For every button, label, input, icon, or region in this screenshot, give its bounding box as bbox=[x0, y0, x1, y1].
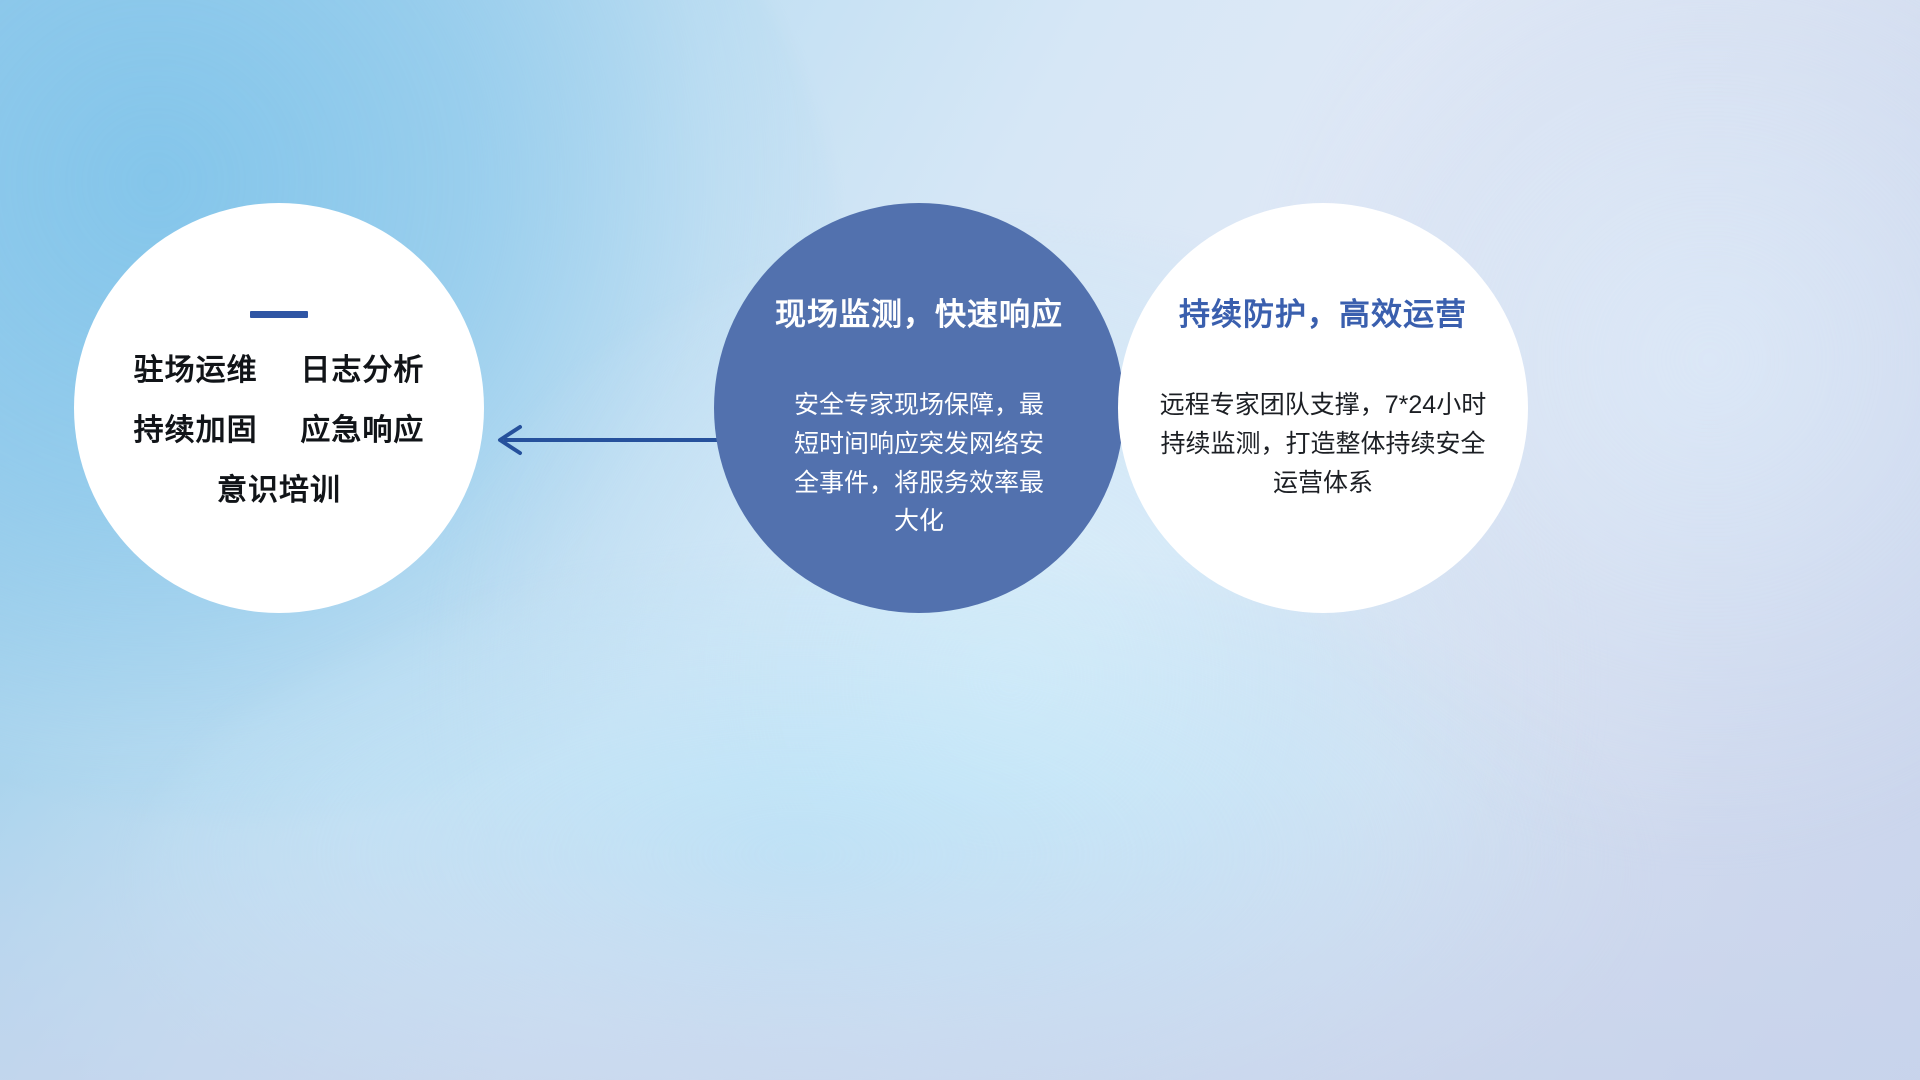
remote-card-title: 持续防护，高效运营 bbox=[1179, 289, 1467, 334]
skill-label: 持续加固 bbox=[134, 414, 258, 447]
skill-row: 驻场运维 日志分析 bbox=[134, 356, 425, 386]
infographic-canvas: 驻场运维 日志分析 持续加固 应急响应 意识培训 现场监测，快速响应 安全专家现… bbox=[0, 0, 1920, 1080]
skill-row: 持续加固 应急响应 bbox=[134, 416, 425, 446]
onsite-card-title: 现场监测，快速响应 bbox=[775, 289, 1063, 334]
skill-row: 意识培训 bbox=[217, 476, 341, 506]
onsite-monitoring-circle[interactable]: 现场监测，快速响应 安全专家现场保障，最短时间响应突发网络安全事件，将服务效率最… bbox=[714, 203, 1124, 613]
remote-operations-circle[interactable]: 持续防护，高效运营 远程专家团队支撑，7*24小时持续监测，打造整体持续安全运营… bbox=[1118, 203, 1528, 613]
skill-label: 驻场运维 bbox=[134, 354, 258, 387]
skills-circle[interactable]: 驻场运维 日志分析 持续加固 应急响应 意识培训 bbox=[74, 203, 484, 613]
skill-label: 应急响应 bbox=[300, 414, 424, 447]
skill-label: 意识培训 bbox=[217, 474, 341, 507]
remote-card-body: 远程专家团队支撑，7*24小时持续监测，打造整体持续安全运营体系 bbox=[1158, 386, 1488, 502]
onsite-card-body: 安全专家现场保障，最短时间响应突发网络安全事件，将服务效率最大化 bbox=[783, 386, 1055, 541]
horizontal-dash-divider-icon bbox=[250, 311, 308, 318]
skill-label: 日志分析 bbox=[300, 354, 424, 387]
background-bottom-veil bbox=[0, 780, 1920, 1080]
